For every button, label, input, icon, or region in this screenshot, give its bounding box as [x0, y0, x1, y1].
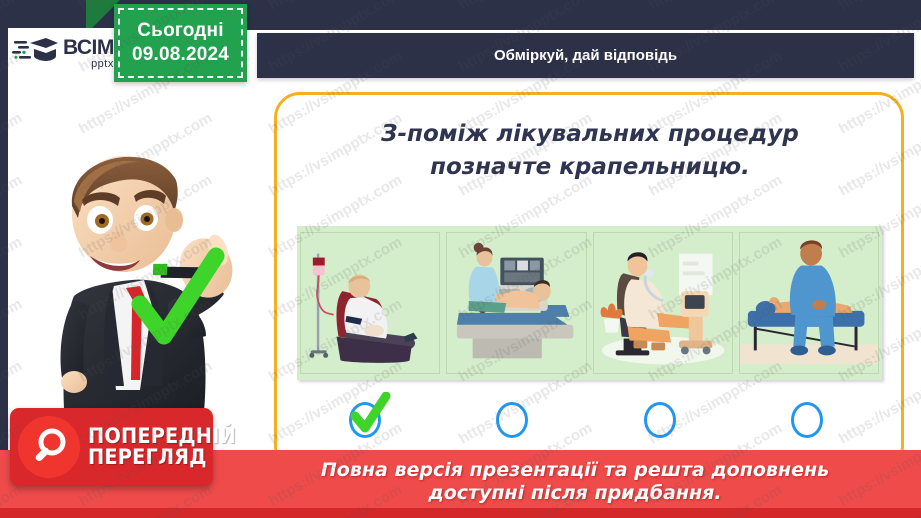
answer-slot-2[interactable]	[492, 398, 532, 442]
preview-badge-line-2: ПЕРЕГЛЯД	[88, 447, 236, 468]
graduation-cap-icon	[12, 36, 58, 70]
question-line-2: позначте крапельницю.	[300, 151, 880, 184]
date-badge-value: 09.08.2024	[132, 44, 229, 66]
page-title: Обміркуй, дай відповідь	[494, 47, 677, 64]
banner-line-2: доступні після придбання.	[240, 482, 910, 506]
header-bar: Обміркуй, дай відповідь	[257, 33, 914, 78]
answer-slot-1[interactable]	[345, 398, 385, 442]
option-image-massage-therapy-table[interactable]	[739, 232, 879, 374]
bottom-banner-accent	[0, 508, 921, 518]
businessman-mascot	[28, 128, 253, 428]
banner-message: Повна версія презентації та решта доповн…	[240, 459, 910, 507]
option-image-oxygen-inhalation-therapy[interactable]	[593, 232, 733, 374]
preview-badge[interactable]: ПОПЕРЕДНІЙ ПЕРЕГЛЯД	[10, 408, 213, 486]
answer-slot-3[interactable]	[640, 398, 680, 442]
option-image-ultrasound-examination[interactable]	[446, 232, 586, 374]
magnifier-icon	[18, 416, 80, 478]
question-line-1: З-поміж лікувальних процедур	[300, 118, 880, 151]
date-badge-label: Сьогодні	[137, 20, 223, 42]
left-navy-strip	[0, 0, 8, 518]
banner-line-1: Повна версія презентації та решта доповн…	[240, 459, 910, 483]
logo-subtitle: pptx	[91, 59, 114, 70]
answer-options-row	[297, 398, 882, 446]
question-text: З-поміж лікувальних процедур позначте кр…	[300, 118, 880, 185]
green-check-icon	[347, 392, 391, 438]
empty-circle-icon[interactable]	[791, 402, 823, 438]
empty-circle-icon[interactable]	[644, 402, 676, 438]
options-image-strip	[297, 226, 882, 380]
option-image-iv-drip-infusion-chair[interactable]	[300, 232, 440, 374]
answer-slot-4[interactable]	[787, 398, 827, 442]
preview-badge-line-1: ПОПЕРЕДНІЙ	[88, 426, 236, 447]
empty-circle-icon[interactable]	[496, 402, 528, 438]
date-badge: Сьогодні 09.08.2024	[114, 4, 247, 82]
logo-title: ВСІМ	[63, 37, 114, 58]
slide-canvas: ВСІМ pptx Сьогодні 09.08.2024 Обміркуй, …	[0, 0, 921, 518]
